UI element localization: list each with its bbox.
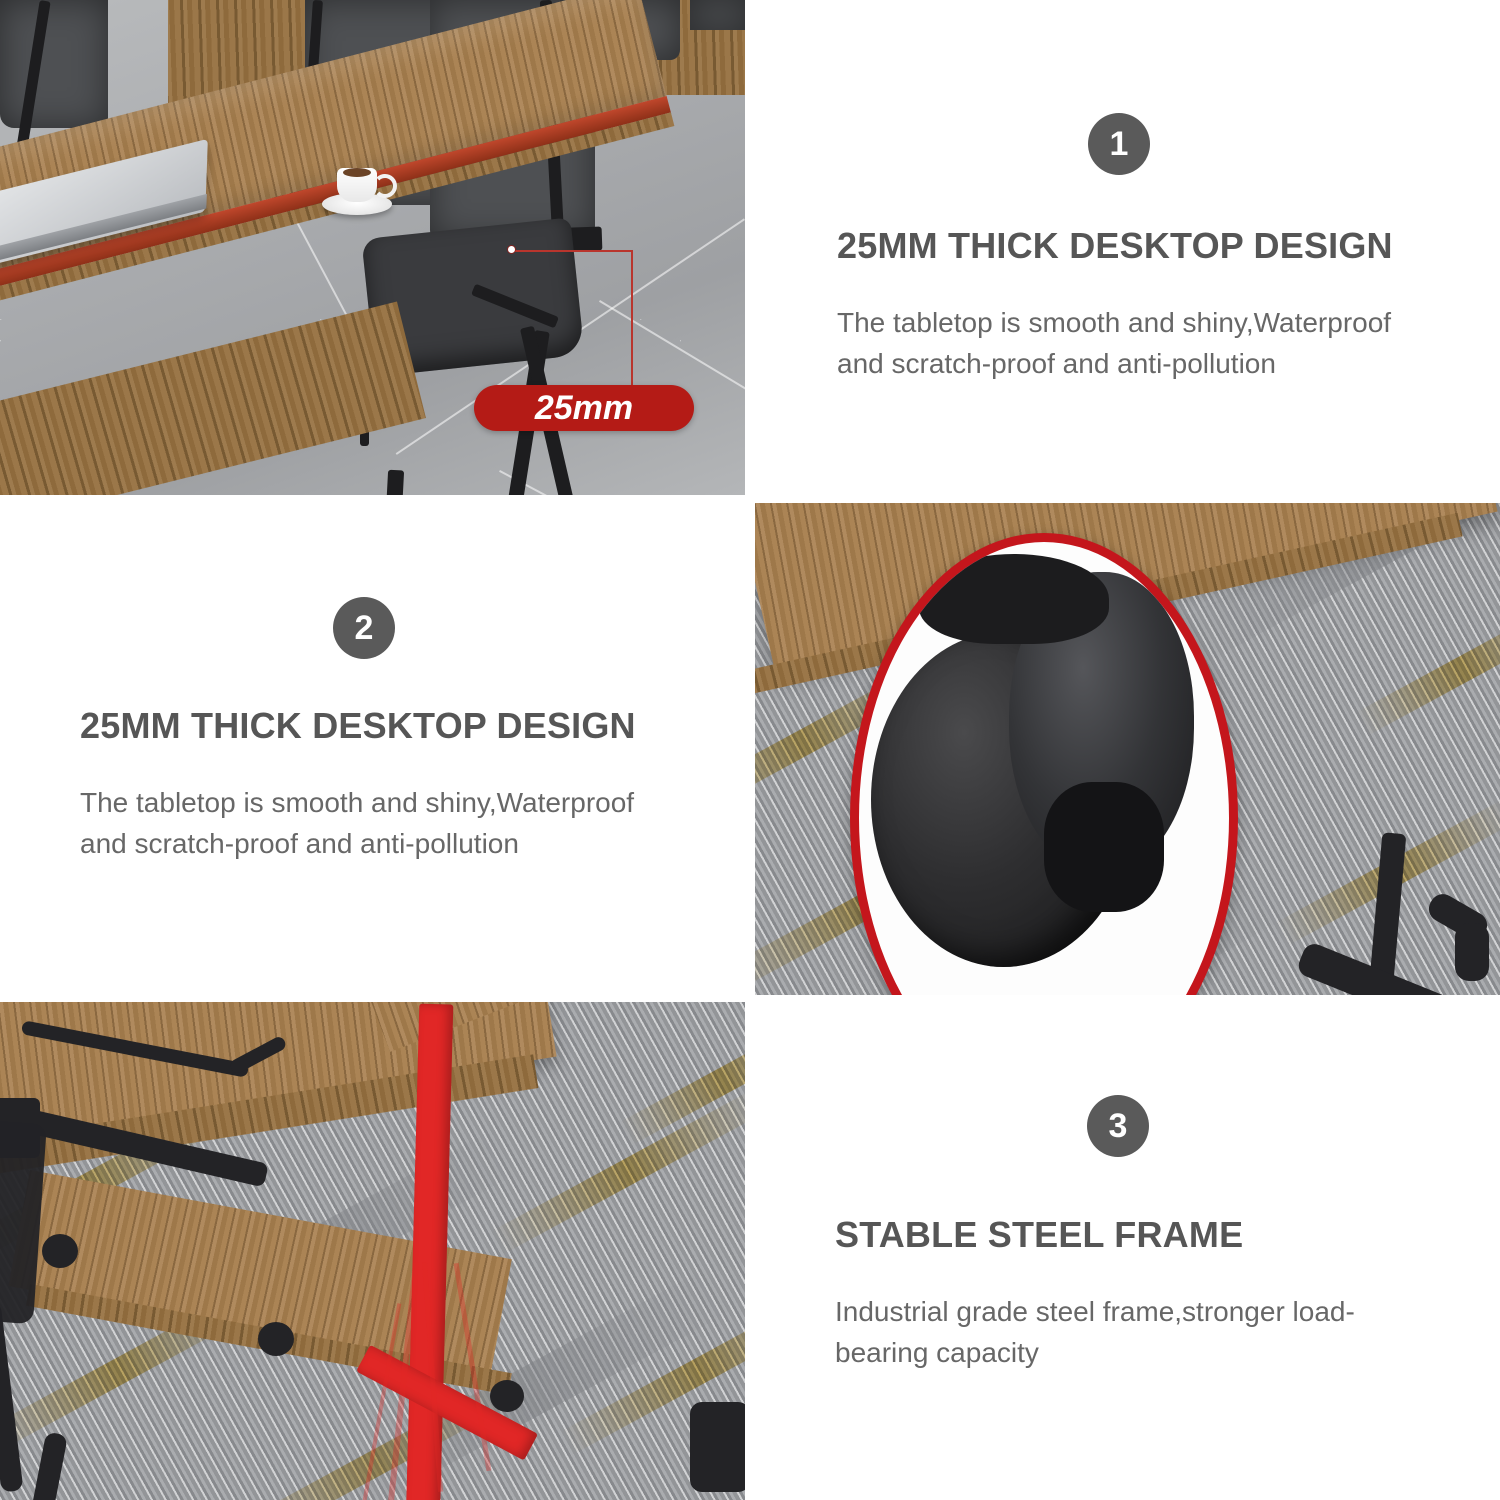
feature-badge-1: 1 xyxy=(1088,113,1150,175)
feature-body-1: The tabletop is smooth and shiny,Waterpr… xyxy=(837,303,1437,384)
black-caster xyxy=(490,1380,524,1412)
photo-steel-frame xyxy=(0,1002,745,1500)
caster-wheel-shadow xyxy=(1044,782,1164,912)
chair-edge-right xyxy=(690,1402,745,1492)
chair-back xyxy=(0,0,108,128)
callout-25mm-pill: 25mm xyxy=(474,385,694,431)
feature-title-2: 25MM THICK DESKTOP DESIGN xyxy=(80,705,636,746)
photo-meeting-table: 25mm xyxy=(0,0,745,495)
callout-25mm-label: 25mm xyxy=(535,389,633,428)
feature-badge-3-number: 3 xyxy=(1109,1109,1128,1143)
chair-back xyxy=(690,0,745,30)
feature-title-1: 25MM THICK DESKTOP DESIGN xyxy=(837,225,1393,266)
infographic-sheet: 25mm 1 25MM THICK DESKTOP DESIGN The tab… xyxy=(0,0,1500,1500)
photo-caster-wheel xyxy=(755,503,1500,995)
callout-leader-vertical xyxy=(631,250,633,394)
table-leg-foot xyxy=(1455,923,1489,981)
feature-body-3: Industrial grade steel frame,stronger lo… xyxy=(835,1292,1435,1373)
feature-title-3: STABLE STEEL FRAME xyxy=(835,1214,1243,1255)
black-caster xyxy=(42,1234,78,1268)
feature-block-1: 1 25MM THICK DESKTOP DESIGN The tabletop… xyxy=(755,0,1500,495)
feature-block-3: 3 STABLE STEEL FRAME Industrial grade st… xyxy=(755,1002,1500,1500)
feature-block-2: 2 25MM THICK DESKTOP DESIGN The tabletop… xyxy=(0,503,745,995)
caster-top-plate xyxy=(919,554,1109,644)
cup-handle xyxy=(373,174,397,198)
feature-badge-3: 3 xyxy=(1087,1095,1149,1157)
feature-badge-1-number: 1 xyxy=(1110,127,1129,161)
feature-badge-2: 2 xyxy=(333,597,395,659)
feature-badge-2-number: 2 xyxy=(355,611,374,645)
coffee-liquid xyxy=(343,168,371,177)
black-caster xyxy=(258,1322,294,1356)
feature-body-2: The tabletop is smooth and shiny,Waterpr… xyxy=(80,783,680,864)
callout-leader-horizontal xyxy=(515,250,633,252)
callout-anchor-dot xyxy=(508,246,515,253)
